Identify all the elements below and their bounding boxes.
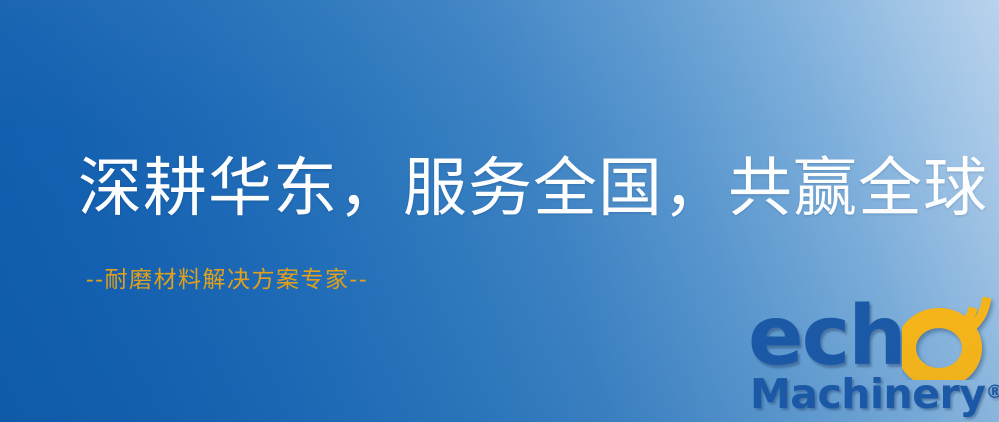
- logo-wordmark-ech: ech: [748, 296, 905, 378]
- registered-trademark-icon: ®: [985, 381, 999, 403]
- logo-tagline: Machinery: [750, 370, 985, 418]
- echo-machinery-logo: ech Machinery®: [742, 296, 999, 422]
- banner-headline: 深耕华东，服务全国，共赢全球: [78, 152, 988, 226]
- echo-wave-o-icon: [902, 294, 999, 380]
- logo-tagline-row: Machinery®: [750, 370, 999, 416]
- banner-subtitle: --耐磨材料解决方案专家--: [86, 265, 368, 295]
- promo-banner: 深耕华东，服务全国，共赢全球 --耐磨材料解决方案专家-- ech: [0, 0, 999, 422]
